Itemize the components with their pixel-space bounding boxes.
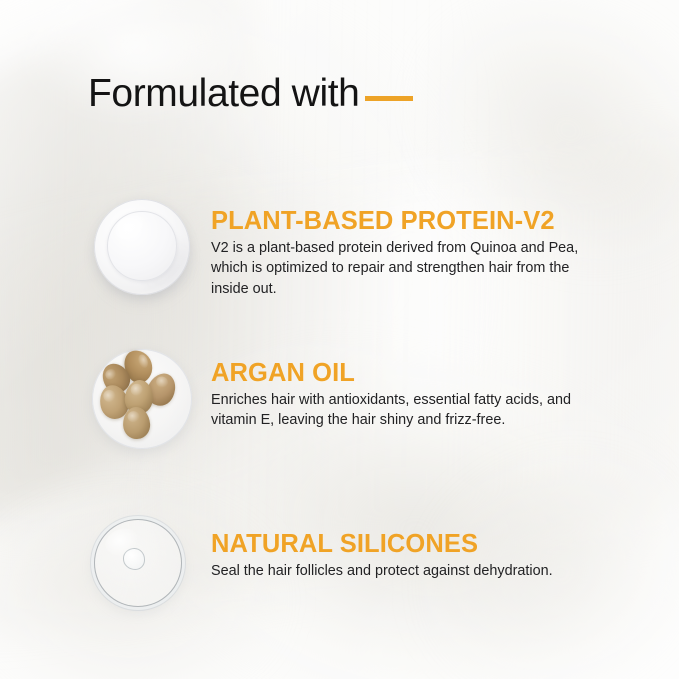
clear-glass-petri-dish-with-droplet-image [94,519,182,607]
ingredient-description: Enriches hair with antioxidants, essenti… [211,390,591,431]
horizontal-dash-icon [365,96,413,101]
ingredient-title: ARGAN OIL [211,360,591,387]
ingredient-block-natural-silicones: NATURAL SILICONES Seal the hair follicle… [211,531,553,581]
page-title: Formulated with [88,74,413,113]
page-title-text: Formulated with [88,74,359,113]
white-cream-petri-dish-image [94,199,190,295]
ingredient-title: NATURAL SILICONES [211,531,553,558]
product-ingredient-infographic: Formulated with PLANT-BASED PROTEIN-V2 V… [0,0,679,679]
ingredient-block-argan-oil: ARGAN OIL Enriches hair with antioxidant… [211,360,591,431]
argan-nuts-in-glass-dish-image [92,349,192,449]
ingredient-description: Seal the hair follicles and protect agai… [211,561,553,581]
ingredient-block-plant-based-protein-v2: PLANT-BASED PROTEIN-V2 V2 is a plant-bas… [211,208,583,299]
ingredient-description: V2 is a plant-based protein derived from… [211,238,583,299]
ingredient-title: PLANT-BASED PROTEIN-V2 [211,208,583,235]
